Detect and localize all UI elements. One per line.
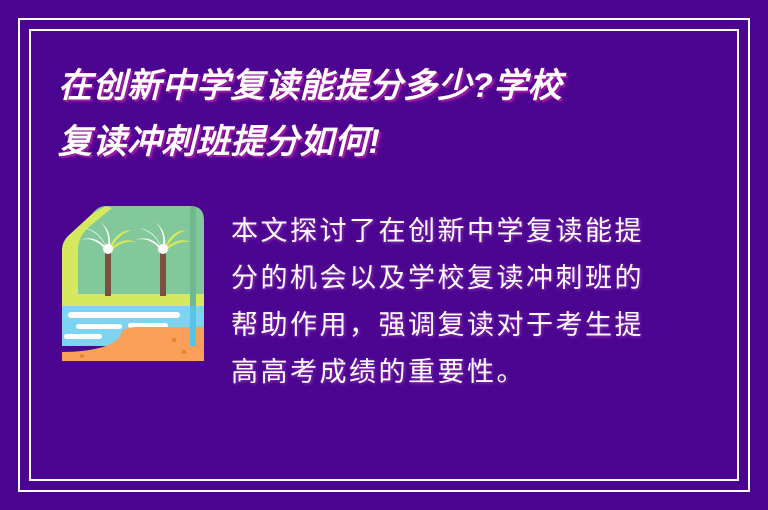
body-line-2: 分的机会以及学校复读冲刺班的 [231,255,655,302]
sand-dot-3 [80,354,84,358]
sand-dot-1 [172,338,177,343]
illustration-scene [62,206,204,361]
body-line-3: 帮助作用，强调复读对于考生提 [231,302,655,349]
grass-layer [62,206,204,306]
foam-line-4 [64,334,102,339]
body-line-4: 高高考成绩的重要性。 [231,349,655,396]
shore-grass-strip [62,294,204,306]
headline-line-1: 在创新中学复读能提分多少?学校 [58,58,658,114]
headline: 在创新中学复读能提分多少?学校 复读冲刺班提分如何! [58,58,658,170]
palm-trunk-1 [105,250,111,296]
palm-trunk-2 [160,250,166,296]
body-copy: 本文探讨了在创新中学复读能提 分的机会以及学校复读冲刺班的 帮助作用，强调复读对… [231,208,655,396]
palm-crown-1 [103,244,113,254]
foam-line-2 [76,324,122,329]
palm-crown-2 [158,244,168,254]
beach-island-svg [62,206,204,361]
poster-canvas: 在创新中学复读能提分多少?学校 复读冲刺班提分如何! [0,0,768,510]
edge-strip-water [190,306,196,346]
sand-dot-2 [182,350,186,354]
foam-line-1 [68,312,180,318]
edge-strip-grass [190,206,196,306]
beach-island-illustration [62,206,204,361]
body-line-1: 本文探讨了在创新中学复读能提 [231,208,655,255]
headline-line-2: 复读冲刺班提分如何! [58,114,658,170]
